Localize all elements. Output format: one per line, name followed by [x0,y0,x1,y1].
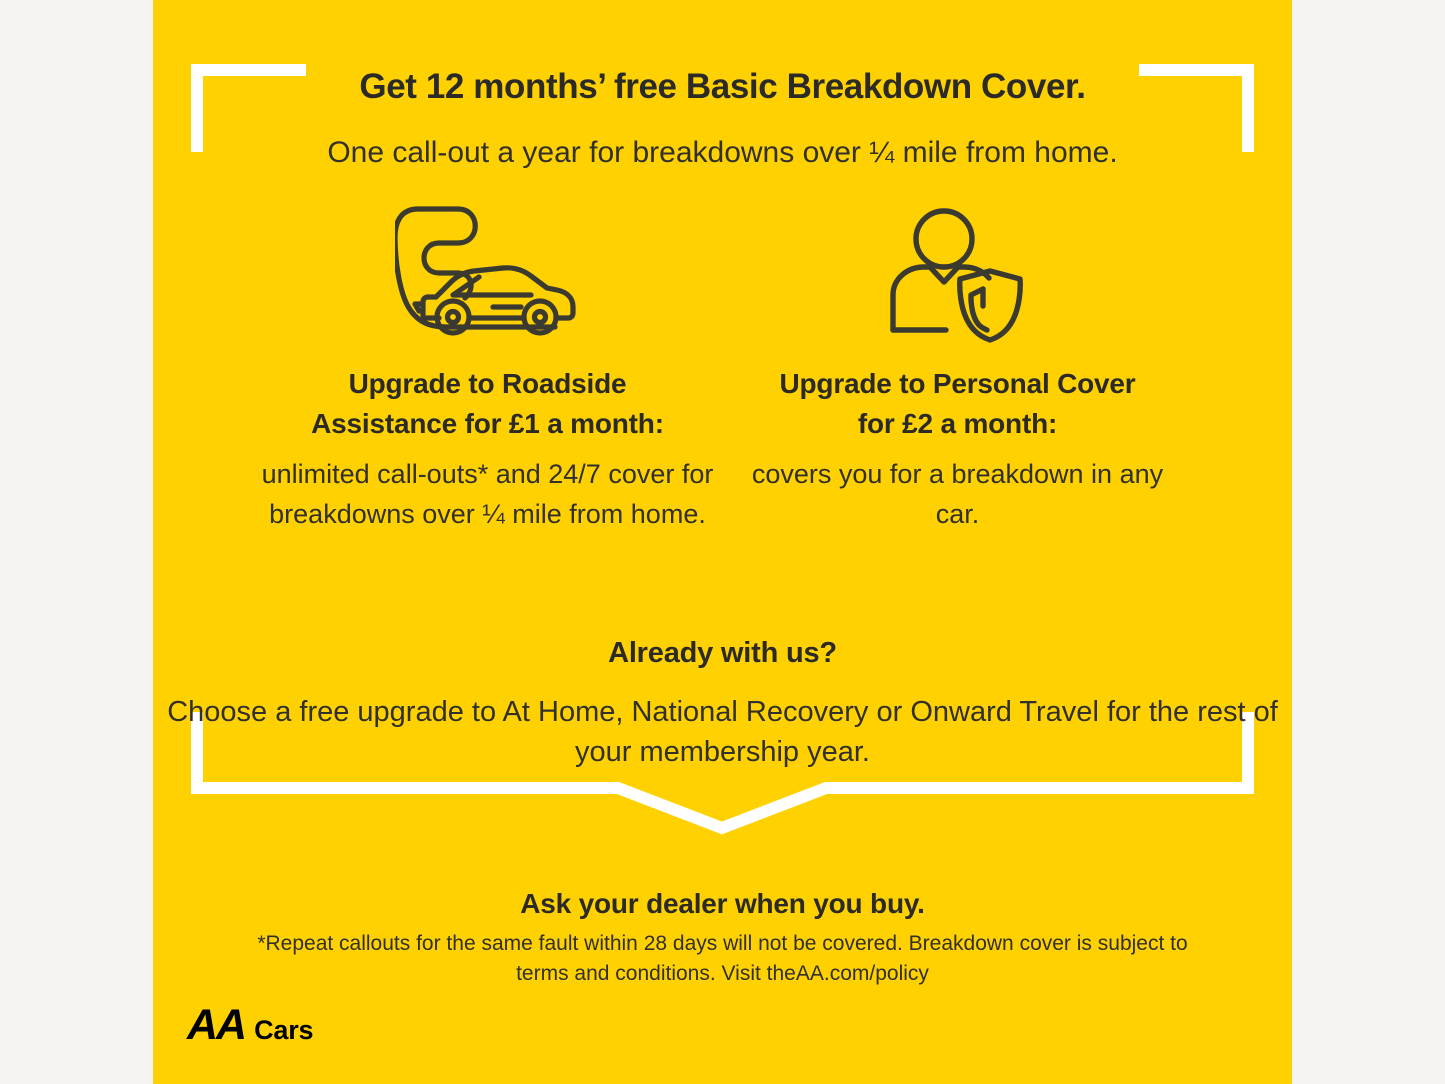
car-on-road-icon [395,200,580,350]
aa-cars-logo: AA Cars [187,1001,313,1050]
call-to-action-text: Ask your dealer when you buy. [153,888,1292,920]
already-with-us-title: Already with us? [153,637,1292,670]
already-with-us-body: Choose a free upgrade to At Home, Nation… [153,692,1292,772]
page-title: Get 12 months’ free Basic Breakdown Cove… [153,67,1292,107]
feature-title-personal: Upgrade to Personal Cover for £2 a month… [758,364,1158,444]
page-subtitle: One call-out a year for breakdowns over … [153,134,1292,172]
feature-title-roadside: Upgrade to Roadside Assistance for £1 a … [288,364,688,444]
aa-logo-word: Cars [254,1015,313,1046]
feature-body-personal: covers you for a breakdown in any car. [728,454,1188,535]
aa-logo-mark: AA [187,1001,245,1050]
yellow-promo-panel: Get 12 months’ free Basic Breakdown Cove… [153,0,1292,1084]
disclaimer-text: *Repeat callouts for the same fault with… [153,929,1292,989]
person-shield-icon [883,200,1033,350]
feature-body-roadside: unlimited call-outs* and 24/7 cover for … [258,454,718,535]
feature-card-roadside: Upgrade to Roadside Assistance for £1 a … [253,200,723,535]
feature-card-personal: Upgrade to Personal Cover for £2 a month… [723,200,1193,535]
promo-image: Get 12 months’ free Basic Breakdown Cove… [0,0,1445,1084]
feature-columns: Upgrade to Roadside Assistance for £1 a … [153,200,1292,535]
